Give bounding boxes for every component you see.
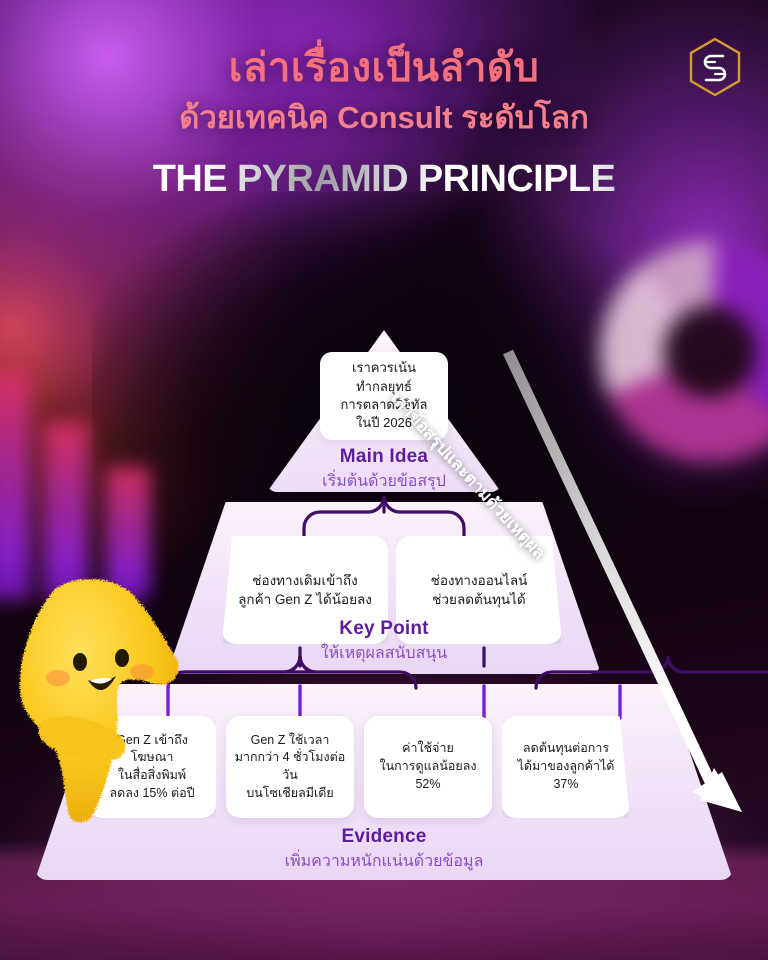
tier-label-key-point: Key Point ให้เหตุผลสนับสนุน [167, 618, 601, 666]
evidence-card[interactable]: ค่าใช้จ่ายในการดูแลน้อยลง52% [364, 716, 492, 818]
page-title: THE PYRAMID PRINCIPLE [0, 158, 768, 201]
hexagon-layers-logo-icon[interactable] [686, 36, 744, 98]
evidence-card[interactable]: ลดต้นทุนต่อการได้มาของลูกค้าได้37% [502, 716, 630, 818]
tier-label-th: ให้เหตุผลสนับสนุน [167, 641, 601, 666]
infographic-canvas: เล่าเรื่องเป็นลำดับ ด้วยเทคนิค Consult ร… [0, 0, 768, 960]
evidence-card-text: Gen Z ใช้เวลามากกว่า 4 ชั่วโมงต่อวันบนโซ… [234, 732, 346, 803]
header: เล่าเรื่องเป็นลำดับ ด้วยเทคนิค Consult ร… [0, 44, 768, 201]
tier-label-en: Key Point [167, 618, 601, 640]
main-idea-card[interactable]: เราควรเน้นทำกลยุทธ์การตลาดดิจิทัลในปี 20… [320, 352, 448, 440]
tier-label-en: Main Idea [267, 446, 501, 468]
tier-label-th: เริ่มต้นด้วยข้อสรุป [267, 469, 501, 494]
key-point-card-text: ช่องทางเดิมเข้าถึงลูกค้า Gen Z ได้น้อยลง [238, 571, 372, 609]
evidence-card-text: ลดต้นทุนต่อการได้มาของลูกค้าได้37% [518, 740, 615, 793]
headline-secondary: ด้วยเทคนิค Consult ระดับโลก [0, 98, 768, 138]
main-idea-card-text: เราควรเน้นทำกลยุทธ์การตลาดดิจิทัลในปี 20… [341, 359, 428, 433]
evidence-card-text: ค่าใช้จ่ายในการดูแลน้อยลง52% [380, 740, 477, 793]
key-point-card-text: ช่องทางออนไลน์ช่วยลดต้นทุนได้ [431, 571, 528, 609]
yellow-star-mascot [16, 572, 188, 834]
evidence-card[interactable]: Gen Z ใช้เวลามากกว่า 4 ชั่วโมงต่อวันบนโซ… [226, 716, 354, 818]
tier-label-th: เพิ่มความหนักแน่นด้วยข้อมูล [35, 849, 733, 874]
headline-primary: เล่าเรื่องเป็นลำดับ [0, 44, 768, 92]
tier-label-main-idea: Main Idea เริ่มต้นด้วยข้อสรุป [267, 446, 501, 494]
